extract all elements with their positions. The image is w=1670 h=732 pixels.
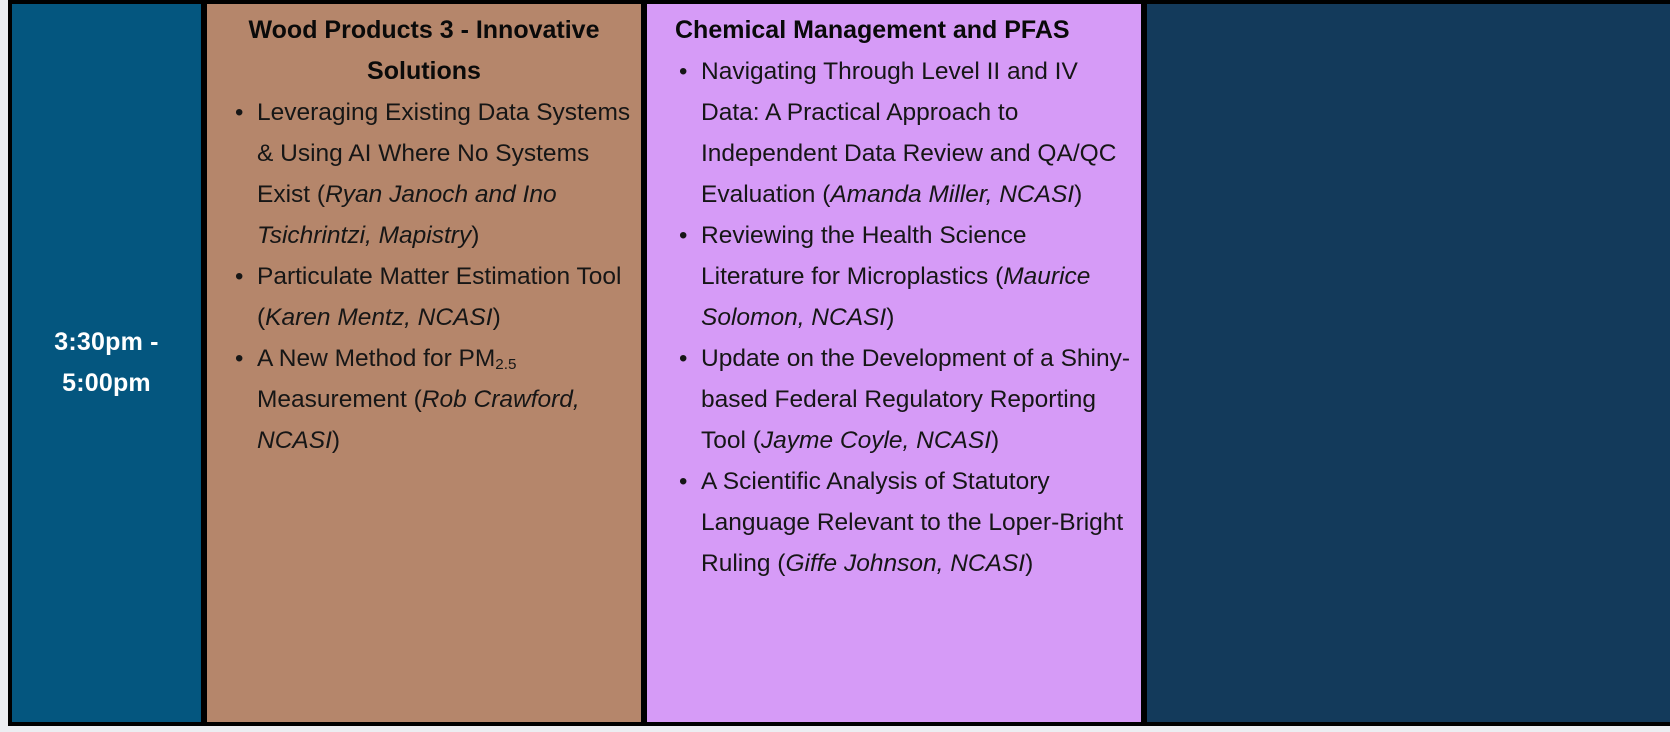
list-item: A New Method for PM2.5 Measurement (Rob … bbox=[217, 338, 631, 461]
time-slot-label: 3:30pm - 5:00pm bbox=[42, 322, 172, 404]
list-item: Navigating Through Level II and IV Data:… bbox=[657, 51, 1131, 215]
talk-presenter: Amanda Miller, NCASI bbox=[830, 181, 1074, 208]
talk-presenter: Karen Mentz, NCASI bbox=[265, 304, 492, 331]
time-slot-cell: 3:30pm - 5:00pm bbox=[8, 0, 204, 726]
session-title: Chemical Management and PFAS bbox=[657, 10, 1131, 51]
talk-tail: ) bbox=[1074, 181, 1082, 208]
talk-presenter: Jayme Coyle, NCASI bbox=[761, 427, 991, 454]
talk-title: Reviewing the Health Science Literature … bbox=[701, 222, 1027, 290]
list-item: Leveraging Existing Data Systems & Using… bbox=[217, 92, 631, 256]
session-cell-chemical-management-and-pfas: Chemical Management and PFAS Navigating … bbox=[644, 0, 1144, 726]
list-item: A Scientific Analysis of Statutory Langu… bbox=[657, 461, 1131, 584]
talk-tail: ) bbox=[332, 427, 340, 454]
talk-tail: ) bbox=[471, 222, 479, 249]
list-item: Update on the Development of a Shiny-bas… bbox=[657, 338, 1131, 461]
talk-tail: ) bbox=[991, 427, 999, 454]
session-title: Wood Products 3 - Innovative Solutions bbox=[217, 10, 631, 92]
list-item: Reviewing the Health Science Literature … bbox=[657, 215, 1131, 338]
talk-tail: ) bbox=[1025, 550, 1033, 577]
agenda-table: 3:30pm - 5:00pm Wood Products 3 - Innova… bbox=[8, 0, 1670, 732]
talk-tail: ) bbox=[493, 304, 501, 331]
talk-presenter: Giffe Johnson, NCASI bbox=[785, 550, 1025, 577]
talk-tail: ) bbox=[886, 304, 894, 331]
session-item-list: Leveraging Existing Data Systems & Using… bbox=[217, 92, 631, 461]
pm25-subscript: 2.5 bbox=[495, 356, 516, 373]
talk-title: A New Method for PM bbox=[257, 345, 495, 372]
session-cell-wood-products-3: Wood Products 3 - Innovative Solutions L… bbox=[204, 0, 644, 726]
session-item-list: Navigating Through Level II and IV Data:… bbox=[657, 51, 1131, 584]
empty-session-cell bbox=[1144, 0, 1670, 726]
list-item: Particulate Matter Estimation Tool (Kare… bbox=[217, 256, 631, 338]
talk-title-cont: Measurement ( bbox=[257, 386, 422, 413]
